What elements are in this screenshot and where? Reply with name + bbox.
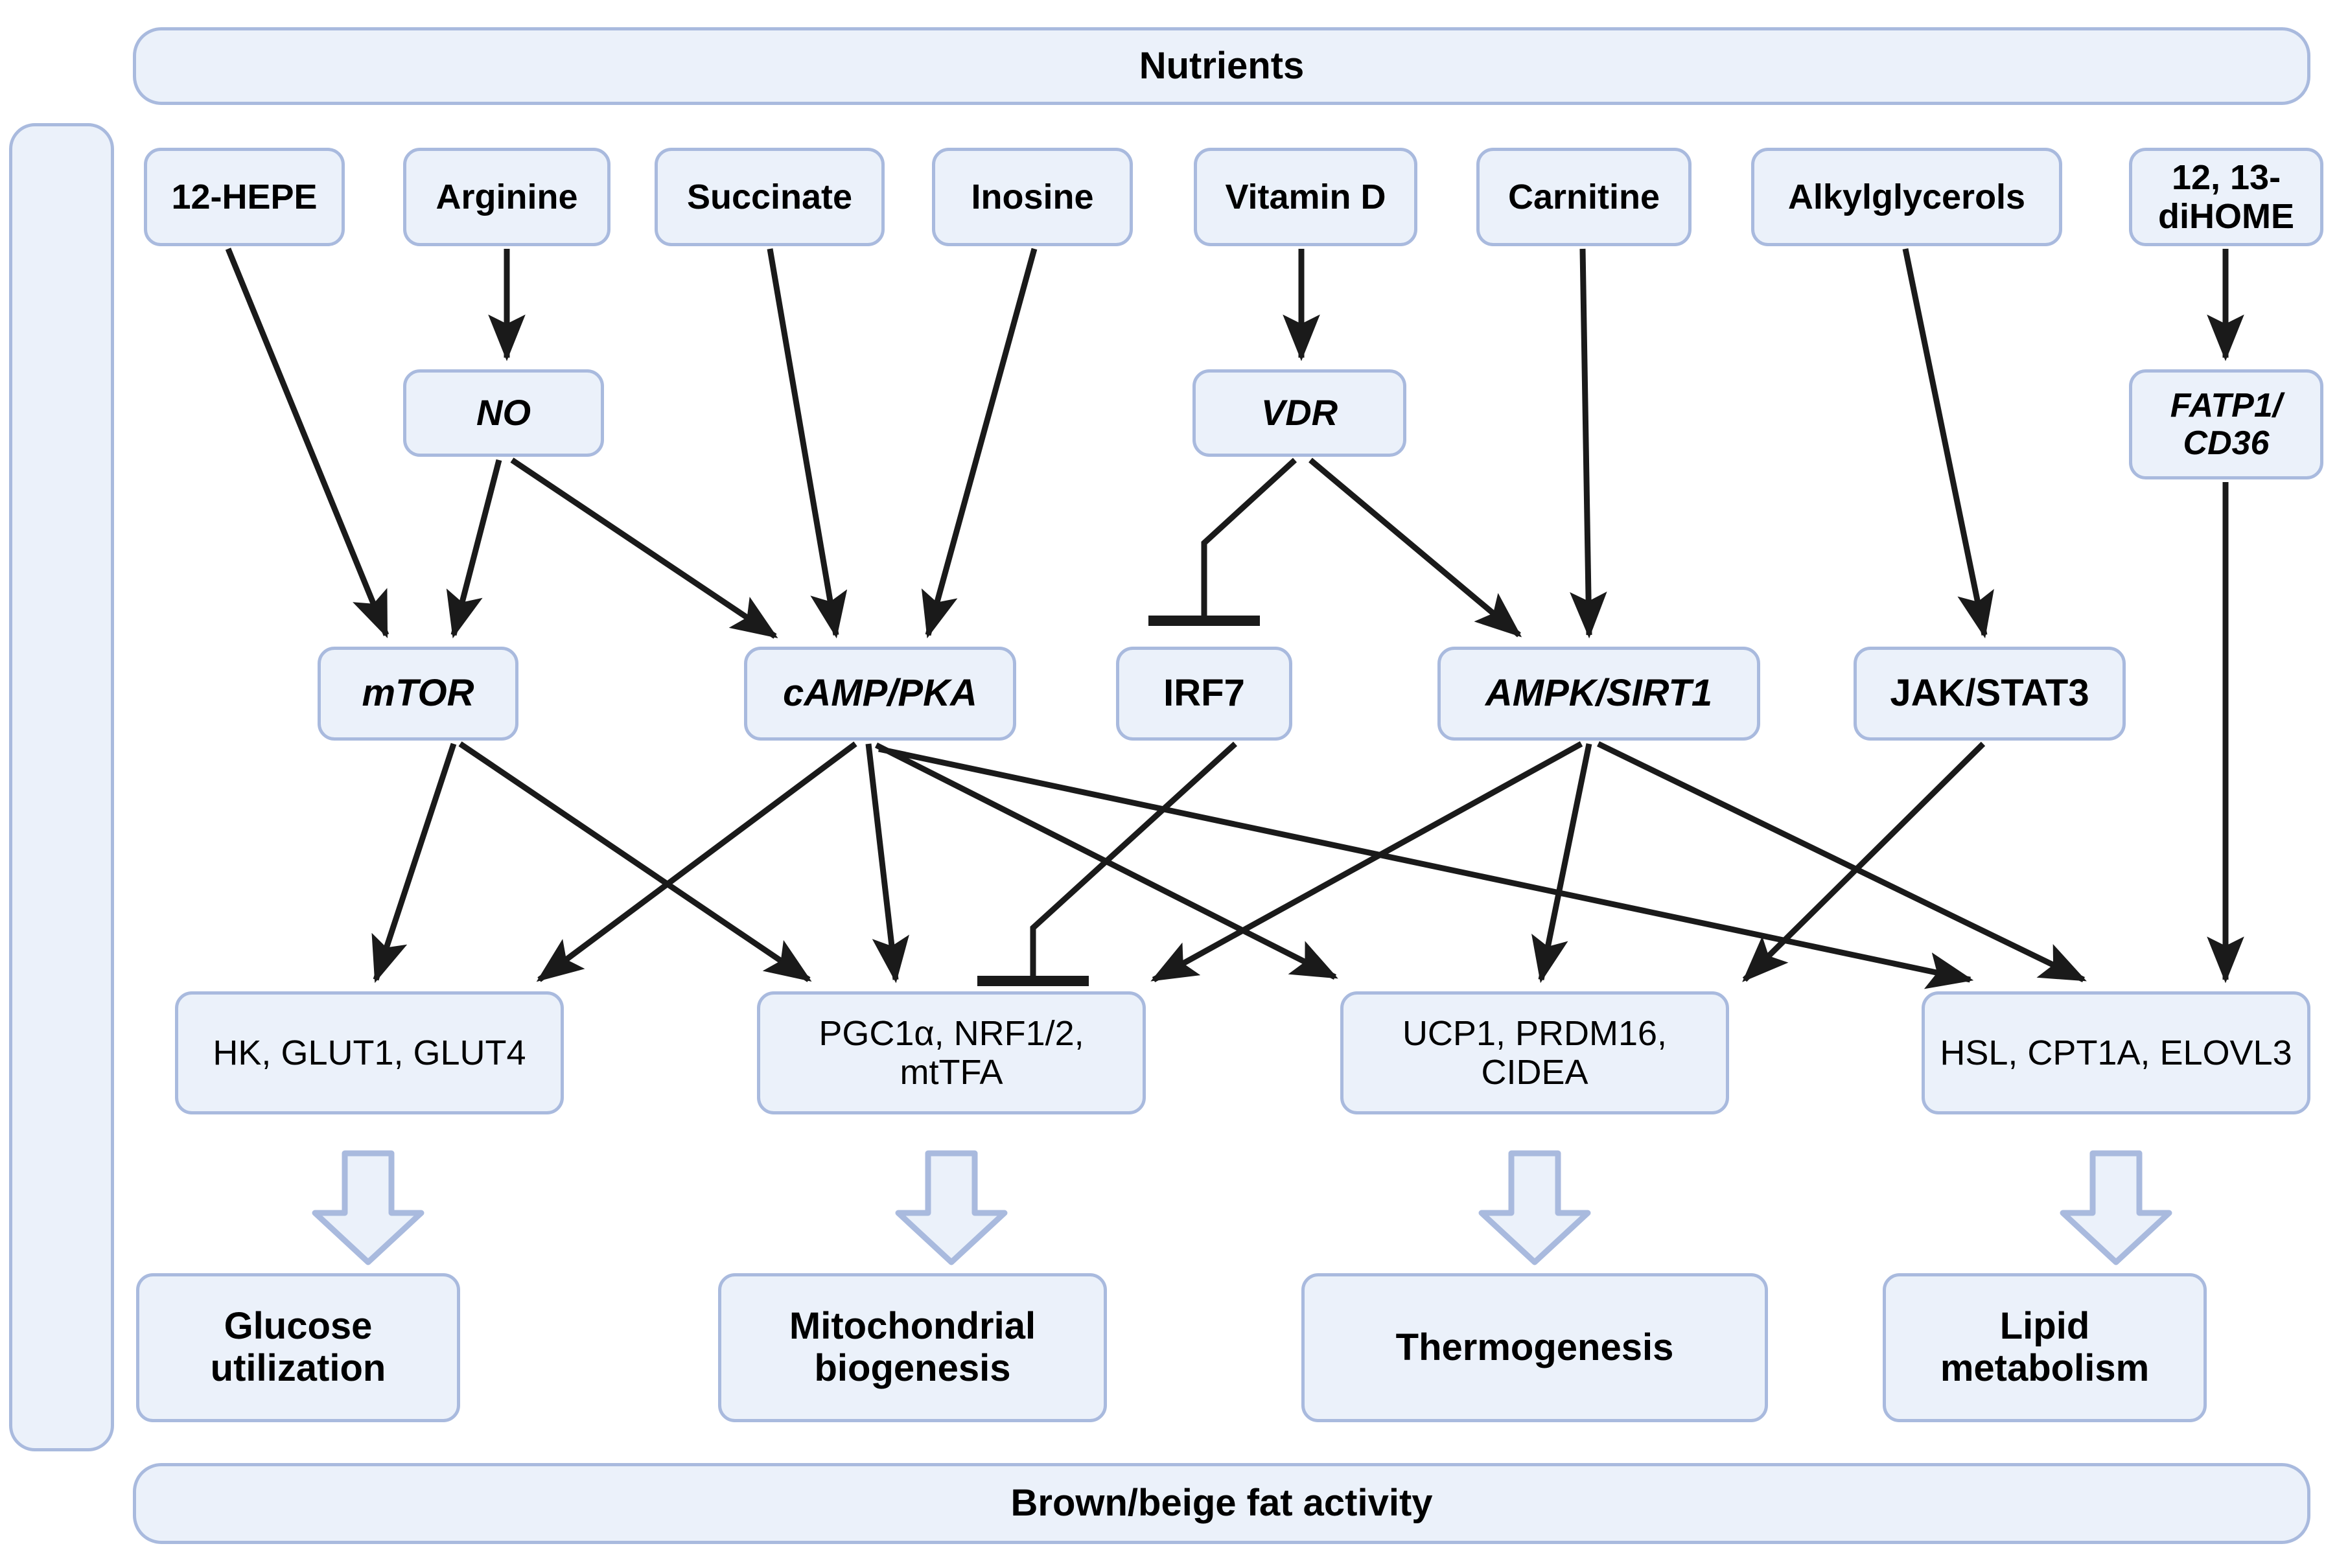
edge-hepe-mtor bbox=[228, 249, 386, 635]
edge-irf7-pgc1a-inhibition bbox=[1033, 744, 1235, 980]
edge-camp-pgc1a bbox=[868, 744, 896, 980]
node-irf7-label: IRF7 bbox=[1163, 673, 1245, 715]
node-thermogenesis-label: Thermogenesis bbox=[1396, 1327, 1674, 1369]
node-fatp1-cd36-label: FATP1/ CD36 bbox=[2132, 387, 2320, 462]
node-inosine-label: Inosine bbox=[971, 178, 1093, 216]
node-alkylglycerols[interactable]: Alkylglycerols bbox=[1751, 148, 2062, 246]
node-mitochondrial-biogenesis-label: Mitochondrial biogenesis bbox=[730, 1306, 1095, 1390]
node-ampk-sirt1-label: AMPK/SIRT1 bbox=[1485, 673, 1712, 715]
node-hsl[interactable]: HSL, CPT1A, ELOVL3 bbox=[1922, 991, 2310, 1114]
node-lipid-metabolism[interactable]: Lipid metabolism bbox=[1883, 1273, 2207, 1422]
block-arrow-lipid bbox=[2063, 1153, 2169, 1262]
edge-carnitine-ampk bbox=[1583, 249, 1589, 635]
node-vitamin-d-label: Vitamin D bbox=[1225, 178, 1386, 216]
edge-mtor-glut bbox=[376, 744, 454, 980]
edge-no-camp bbox=[512, 460, 775, 636]
node-carnitine-label: Carnitine bbox=[1508, 178, 1660, 216]
node-pgc1a[interactable]: PGC1α, NRF1/2, mtTFA bbox=[757, 991, 1146, 1114]
node-carnitine[interactable]: Carnitine bbox=[1476, 148, 1692, 246]
edge-vdr-ampk bbox=[1310, 460, 1519, 635]
node-mtor[interactable]: mTOR bbox=[318, 647, 518, 741]
node-no[interactable]: NO bbox=[403, 369, 604, 457]
edge-camp-glut bbox=[539, 744, 855, 980]
edge-ampk-ucp1 bbox=[1541, 744, 1589, 980]
node-camp-pka[interactable]: cAMP/PKA bbox=[744, 647, 1016, 741]
node-alkylglycerols-label: Alkylglycerols bbox=[1788, 178, 2025, 216]
node-jak-stat3-label: JAK/STAT3 bbox=[1890, 673, 2089, 715]
brown-beige-fat-banner-label: Brown/beige fat activity bbox=[1010, 1482, 1432, 1525]
node-inosine[interactable]: Inosine bbox=[932, 148, 1133, 246]
node-vitamin-d[interactable]: Vitamin D bbox=[1194, 148, 1417, 246]
edge-ampk-pgc1a bbox=[1154, 744, 1581, 980]
node-no-label: NO bbox=[476, 393, 531, 433]
node-arginine-label: Arginine bbox=[436, 178, 577, 216]
node-glucose-utilization[interactable]: Glucose utilization bbox=[136, 1273, 460, 1422]
node-vdr[interactable]: VDR bbox=[1192, 369, 1406, 457]
node-12-hepe-label: 12-HEPE bbox=[171, 178, 317, 216]
node-thermogenesis[interactable]: Thermogenesis bbox=[1301, 1273, 1768, 1422]
nutrients-banner-label: Nutrients bbox=[1139, 45, 1305, 87]
node-camp-pka-label: cAMP/PKA bbox=[783, 673, 977, 715]
edge-alkyl-jak bbox=[1905, 249, 1984, 635]
node-ampk-sirt1[interactable]: AMPK/SIRT1 bbox=[1437, 647, 1760, 741]
edge-vdr-irf7-inhibition bbox=[1204, 460, 1295, 619]
node-hk-glut[interactable]: HK, GLUT1, GLUT4 bbox=[175, 991, 564, 1114]
node-succinate[interactable]: Succinate bbox=[655, 148, 885, 246]
node-irf7[interactable]: IRF7 bbox=[1116, 647, 1292, 741]
block-arrow-mito bbox=[898, 1153, 1005, 1262]
edge-jak-ucp1 bbox=[1745, 744, 1983, 980]
node-glucose-utilization-label: Glucose utilization bbox=[148, 1306, 448, 1390]
node-jak-stat3[interactable]: JAK/STAT3 bbox=[1854, 647, 2126, 741]
edge-mtor-pgc1a bbox=[460, 744, 809, 980]
node-ucp1-label: UCP1, PRDM16, CIDEA bbox=[1354, 1014, 1715, 1092]
pathway-diagram: Nutrients Mechanisms 12-HEPE Arginine Su… bbox=[0, 0, 2337, 1568]
node-lipid-metabolism-label: Lipid metabolism bbox=[1895, 1306, 2194, 1390]
node-vdr-label: VDR bbox=[1261, 393, 1338, 433]
block-arrow-glucose bbox=[315, 1153, 421, 1262]
node-12-hepe[interactable]: 12-HEPE bbox=[144, 148, 345, 246]
edge-inosine-camp bbox=[928, 249, 1034, 635]
node-mitochondrial-biogenesis[interactable]: Mitochondrial biogenesis bbox=[718, 1273, 1107, 1422]
node-mtor-label: mTOR bbox=[362, 673, 474, 715]
block-arrow-thermo bbox=[1482, 1153, 1588, 1262]
node-pgc1a-label: PGC1α, NRF1/2, mtTFA bbox=[771, 1014, 1132, 1092]
edge-camp-ucp1 bbox=[876, 745, 1335, 977]
node-arginine[interactable]: Arginine bbox=[403, 148, 610, 246]
nutrients-banner: Nutrients bbox=[133, 27, 2310, 105]
node-hk-glut-label: HK, GLUT1, GLUT4 bbox=[213, 1033, 526, 1072]
node-hsl-label: HSL, CPT1A, ELOVL3 bbox=[1940, 1033, 2292, 1072]
brown-beige-fat-banner: Brown/beige fat activity bbox=[133, 1463, 2310, 1544]
node-12-13-dihome-label: 12, 13-diHOME bbox=[2139, 158, 2314, 236]
node-succinate-label: Succinate bbox=[687, 178, 852, 216]
node-fatp1-cd36[interactable]: FATP1/ CD36 bbox=[2129, 369, 2323, 479]
mechanisms-sidebar bbox=[9, 123, 114, 1451]
node-ucp1[interactable]: UCP1, PRDM16, CIDEA bbox=[1340, 991, 1729, 1114]
edge-no-mtor bbox=[454, 460, 499, 635]
edge-camp-hsl bbox=[879, 749, 1970, 980]
edge-ampk-hsl bbox=[1598, 744, 2084, 980]
node-12-13-dihome[interactable]: 12, 13-diHOME bbox=[2129, 148, 2323, 246]
edge-succinate-camp bbox=[770, 249, 836, 635]
